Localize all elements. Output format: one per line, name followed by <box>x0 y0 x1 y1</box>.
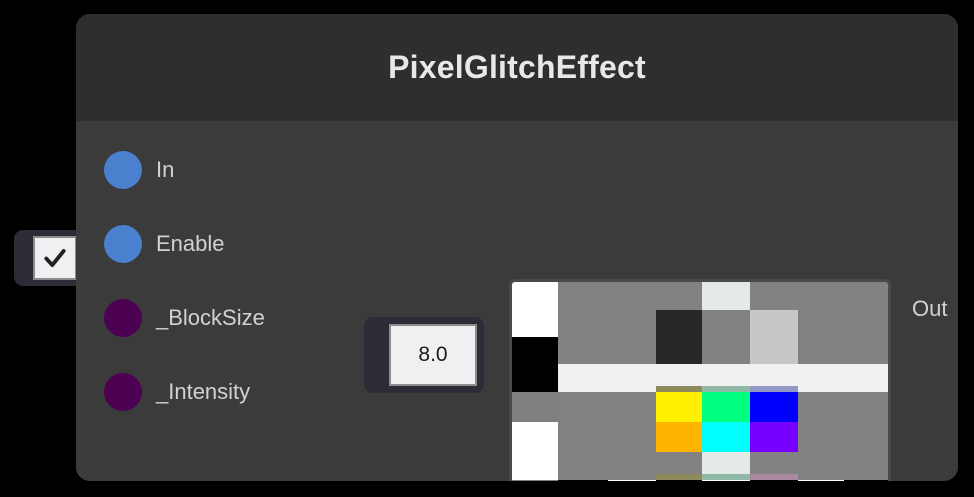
port-row-blocksize[interactable]: _BlockSize <box>104 293 265 343</box>
port-row-out[interactable]: Out <box>912 290 958 328</box>
port-row-intensity[interactable]: _Intensity <box>104 367 250 417</box>
port-dot-in[interactable] <box>104 151 142 189</box>
preview-pixel-block <box>558 392 656 452</box>
port-dot-intensity[interactable] <box>104 373 142 411</box>
preview-pixel-block <box>512 480 558 481</box>
preview-pixel-block <box>656 386 702 392</box>
preview-pixel-block <box>656 310 702 364</box>
preview-pixel-block <box>702 392 750 422</box>
preview-pixel-block <box>656 474 702 480</box>
preview-pixel-block <box>750 386 798 392</box>
preview-pixel-block <box>512 282 558 337</box>
blocksize-input[interactable]: 8.0 <box>389 324 477 386</box>
preview-pixel-block <box>750 392 798 422</box>
check-icon <box>42 245 68 271</box>
preview-pixel-block <box>512 337 558 364</box>
preview-pixel-block <box>702 480 750 481</box>
node-editor-canvas: PixelGlitchEffect In Enable _BlockSize <box>0 0 974 497</box>
preview-pixel-block <box>750 310 798 364</box>
preview-pixel-block <box>702 310 750 364</box>
preview-pixel-block <box>512 422 558 452</box>
preview-canvas <box>512 282 888 481</box>
preview-pixel-block <box>702 282 750 310</box>
port-label-out: Out <box>912 296 947 322</box>
checkbox-box[interactable] <box>33 236 77 280</box>
page-title: PixelGlitchEffect <box>388 49 646 86</box>
preview-pixel-block <box>656 480 702 481</box>
preview-pixel-block <box>558 480 608 481</box>
preview-pixel-block <box>702 386 750 392</box>
preview-pixel-block <box>798 392 888 452</box>
blocksize-field[interactable]: 8.0 <box>364 317 484 393</box>
port-dot-blocksize[interactable] <box>104 299 142 337</box>
preview-pixel-block <box>702 474 750 480</box>
port-row-in[interactable]: In <box>104 145 174 195</box>
preview-pixel-block <box>608 480 656 481</box>
node-header: PixelGlitchEffect <box>76 14 958 121</box>
preview-pixel-block <box>750 480 798 481</box>
port-dot-enable[interactable] <box>104 225 142 263</box>
preview-pixel-block <box>750 282 888 310</box>
preview-pixel-block <box>750 474 798 480</box>
preview-pixel-block <box>702 422 750 452</box>
port-label-in: In <box>156 157 174 183</box>
node-body: In Enable _BlockSize _Intensity 8.0 <box>76 121 958 481</box>
node-panel[interactable]: PixelGlitchEffect In Enable _BlockSize <box>76 14 958 481</box>
port-label-intensity: _Intensity <box>156 379 250 405</box>
preview-pixel-block <box>750 422 798 452</box>
port-row-enable[interactable]: Enable <box>104 219 225 269</box>
preview-pixel-block <box>512 364 558 392</box>
port-label-blocksize: _BlockSize <box>156 305 265 331</box>
port-label-enable: Enable <box>156 231 225 257</box>
preview-pixel-block <box>844 480 888 481</box>
preview-thumbnail[interactable] <box>509 279 891 481</box>
preview-pixel-block <box>798 480 844 481</box>
preview-pixel-block <box>512 452 558 480</box>
preview-pixel-block <box>798 310 888 364</box>
preview-pixel-block <box>656 392 702 422</box>
preview-pixel-block <box>656 422 702 452</box>
